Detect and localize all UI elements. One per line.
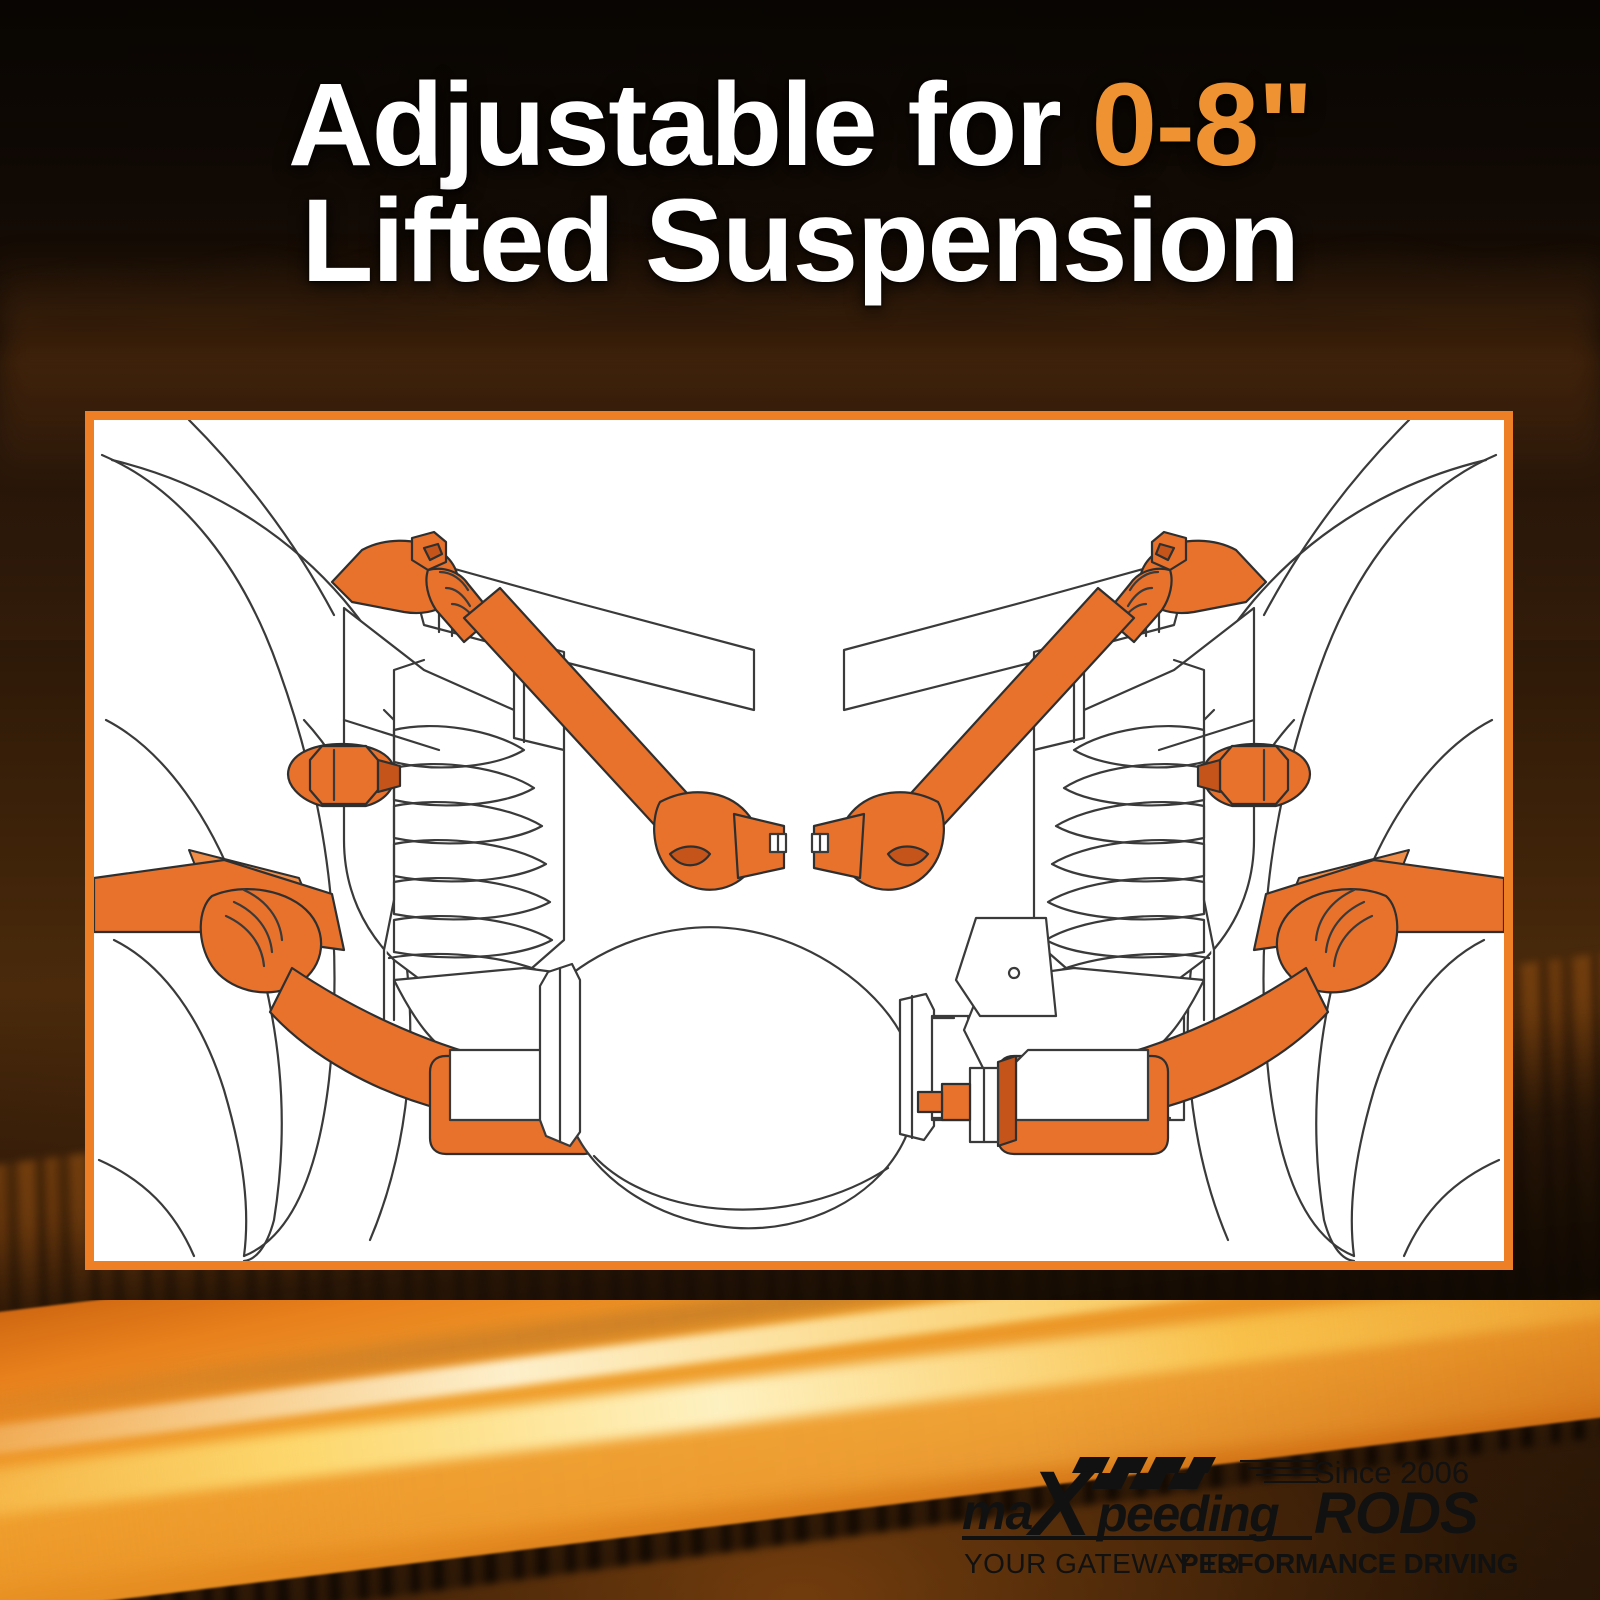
brand-ma: ma [962,1484,1032,1540]
headline: Adjustable for 0-8" Lifted Suspension [0,68,1600,299]
product-illustration-panel: .ln{fill:none;stroke:#3a3a3a;stroke-widt… [85,411,1513,1270]
brand-peeding: peeding [1095,1486,1279,1542]
headline-line-2: Lifted Suspension [0,184,1600,300]
poster-canvas: Adjustable for 0-8" Lifted Suspension .l… [0,0,1600,1600]
right-hub-bolt [1198,744,1310,806]
tagline-bold: PERFORMANCE DRIVING [1180,1548,1518,1579]
checkered-flag-icon [1072,1457,1216,1489]
headline-accent-range: 0-8" [1092,59,1313,191]
center-axle-bracket [956,918,1056,1016]
headline-line-1: Adjustable for 0-8" [0,68,1600,184]
since-speedlines-icon [1240,1461,1318,1482]
suspension-line-drawing: .ln{fill:none;stroke:#3a3a3a;stroke-widt… [94,420,1504,1261]
brand-tagline: YOUR GATEWAY TO PERFORMANCE DRIVING [964,1548,1518,1579]
headline-line-1-prefix: Adjustable for [288,59,1092,191]
left-hub-bolt [288,744,400,806]
brand-logo[interactable]: Since 2006 ma X peeding RODS YOUR GATEWA… [962,1443,1522,1583]
brand-rods: RODS [1314,1481,1479,1546]
